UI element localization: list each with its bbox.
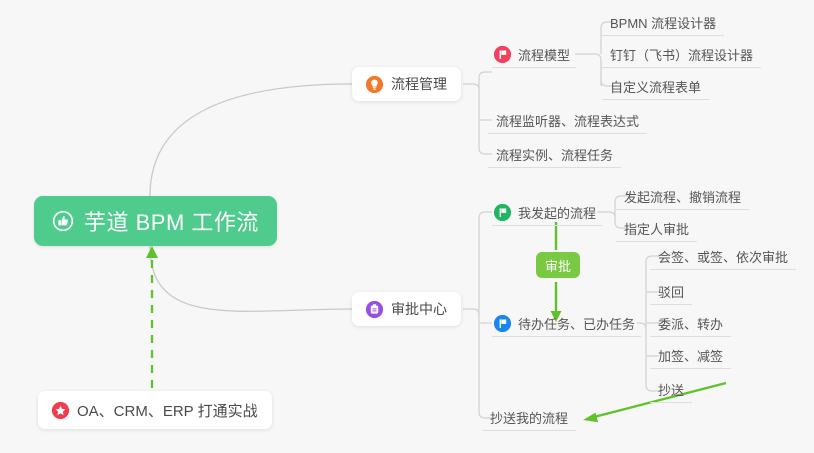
leaf-label: 发起流程、撤销流程	[624, 187, 741, 206]
leaf-label: 会签、或签、依次审批	[658, 247, 788, 266]
root-label: 芋道 BPM 工作流	[84, 205, 259, 237]
link-root-to-process-management	[150, 84, 352, 196]
leaf-label: 加签、减签	[658, 346, 723, 365]
leaf-process-instance-task[interactable]: 流程实例、流程任务	[488, 141, 621, 168]
leaf-bpmn-designer[interactable]: BPMN 流程设计器	[602, 9, 724, 36]
thumbs-up-icon	[52, 210, 74, 232]
branch-label: 流程管理	[391, 74, 447, 94]
leaf-cc-to-me-process[interactable]: 抄送我的流程	[482, 404, 576, 431]
leaf-reject[interactable]: 驳回	[650, 278, 692, 305]
leaf-label: 抄送	[658, 380, 684, 399]
topic-my-initiated-process[interactable]: 我发起的流程	[492, 199, 602, 226]
leaf-process-listener-expression[interactable]: 流程监听器、流程表达式	[488, 107, 647, 134]
mindmap-canvas[interactable]: 芋道 BPM 工作流 流程管理 流程模型 BPMN 流程设计器 钉钉（飞书）流程	[0, 0, 814, 453]
flag-icon	[494, 315, 511, 332]
leaf-carbon-copy[interactable]: 抄送	[650, 376, 692, 403]
topic-process-model[interactable]: 流程模型	[492, 41, 576, 68]
flag-icon	[494, 204, 511, 221]
leaf-dingtalk-feishu-designer[interactable]: 钉钉（飞书）流程设计器	[602, 41, 761, 68]
flag-icon	[494, 46, 511, 63]
leaf-label: 指定人审批	[624, 219, 689, 238]
topic-todo-done-task[interactable]: 待办任务、已办任务	[492, 310, 641, 337]
leaf-label: 钉钉（飞书）流程设计器	[610, 45, 753, 64]
lightbulb-icon	[366, 76, 383, 93]
annotation-label: OA、CRM、ERP 打通实战	[77, 400, 258, 421]
branch-approval-center[interactable]: 审批中心	[352, 292, 461, 326]
annotation-approval-chip[interactable]: 审批	[536, 252, 580, 278]
leaf-assignee-approval[interactable]: 指定人审批	[616, 215, 697, 242]
leaf-add-remove-sign[interactable]: 加签、减签	[650, 342, 731, 369]
leaf-delegate-transfer[interactable]: 委派、转办	[650, 310, 731, 337]
leaf-start-cancel-process[interactable]: 发起流程、撤销流程	[616, 183, 749, 210]
leaf-label: BPMN 流程设计器	[610, 13, 716, 32]
link-root-to-approval-center	[150, 246, 352, 311]
topic-label: 待办任务、已办任务	[518, 314, 635, 333]
leaf-label: 自定义流程表单	[610, 77, 701, 96]
clipboard-icon	[366, 301, 383, 318]
star-icon	[52, 402, 69, 419]
root-node[interactable]: 芋道 BPM 工作流	[34, 196, 277, 246]
leaf-label: 流程监听器、流程表达式	[496, 111, 639, 130]
annotation-integration-note[interactable]: OA、CRM、ERP 打通实战	[38, 391, 272, 429]
chip-label: 审批	[545, 256, 571, 275]
leaf-label: 驳回	[658, 282, 684, 301]
leaf-countersign-orsign-sequential[interactable]: 会签、或签、依次审批	[650, 243, 796, 270]
leaf-label: 流程实例、流程任务	[496, 145, 613, 164]
branch-process-management[interactable]: 流程管理	[352, 67, 461, 101]
leaf-label: 委派、转办	[658, 314, 723, 333]
topic-label: 我发起的流程	[518, 203, 596, 222]
topic-label: 流程模型	[518, 45, 570, 64]
leaf-label: 抄送我的流程	[490, 408, 568, 427]
branch-label: 审批中心	[391, 299, 447, 319]
integration-note-arrow	[146, 246, 158, 388]
leaf-custom-process-form[interactable]: 自定义流程表单	[602, 73, 709, 100]
